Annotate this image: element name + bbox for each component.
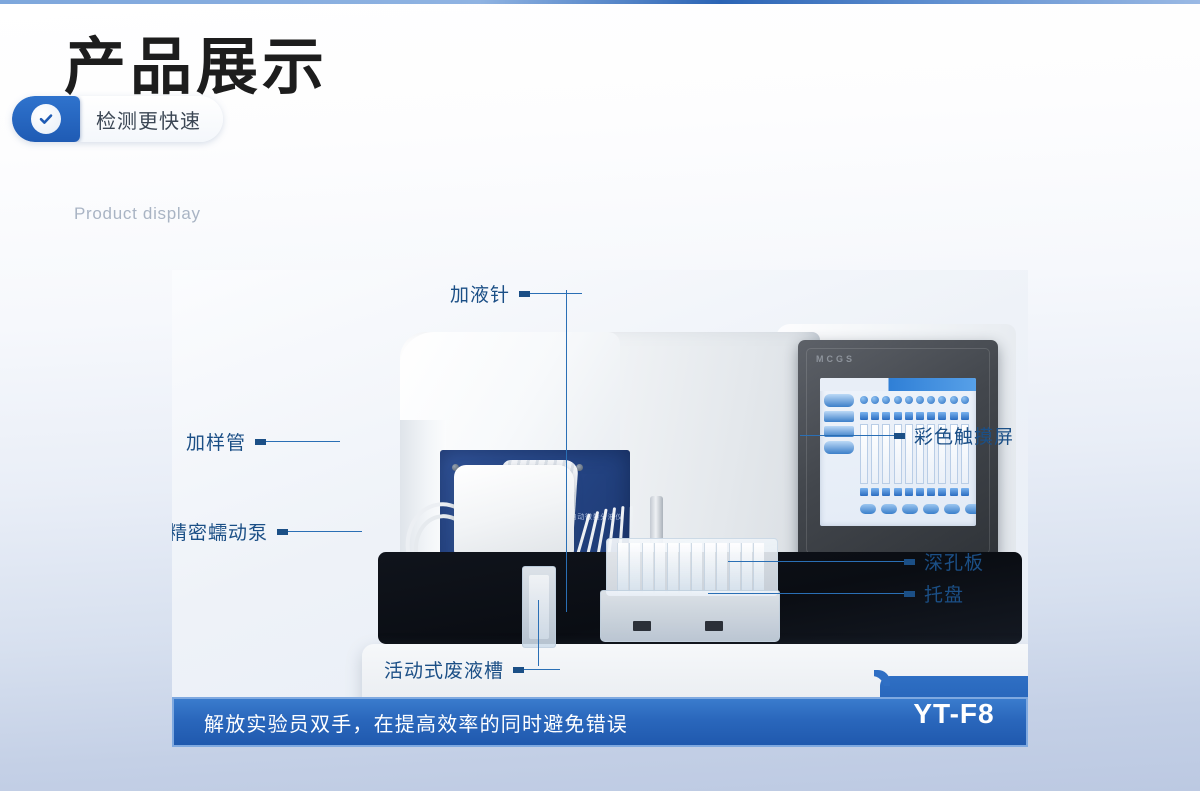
callout-label: 深孔板: [924, 548, 984, 575]
callout-sample-tube: 加样管: [186, 428, 340, 455]
callout-lead-line: [530, 293, 582, 294]
callout-peristaltic-pump: 精密蠕动泵: [172, 518, 362, 545]
callout-label: 托盘: [924, 580, 964, 607]
callout-label: 活动式废液槽: [384, 656, 504, 683]
badge-icon-area: [12, 96, 80, 142]
product-model-badge: YT-F8: [880, 688, 1028, 740]
product-photo: 全自动微量分液仪 MCGS: [172, 270, 1028, 732]
callout-marker-icon: [904, 591, 915, 597]
page-title: 产品展示: [64, 34, 564, 99]
callout-marker-icon: [904, 559, 915, 565]
lcd-square-row-bottom: [860, 488, 969, 496]
trough-inner: [529, 575, 549, 639]
callout-label: 加液针: [450, 280, 510, 307]
callout-lead-line: [800, 435, 894, 436]
touchscreen-bezel: MCGS: [798, 340, 998, 562]
feature-badge: 检测更快速: [12, 96, 223, 142]
callout-marker-icon: [513, 667, 524, 673]
page-subtitle: Product display: [74, 204, 201, 224]
callout-lead-line: [708, 593, 904, 594]
lcd-button-row: [860, 504, 976, 514]
callout-marker-icon: [255, 439, 266, 445]
callout-lead-line: [728, 561, 904, 562]
waste-liquid-trough: [522, 566, 556, 648]
product-image-card: 全自动微量分液仪 MCGS: [172, 270, 1028, 732]
lcd-square-row-top: [860, 412, 969, 420]
callout-marker-icon: [894, 433, 905, 439]
lcd-indicator-row: [860, 396, 969, 404]
callout-color-touchscreen: 彩色触摸屏: [800, 422, 1014, 449]
touchscreen-display[interactable]: [820, 378, 976, 526]
callout-marker-icon: [519, 291, 530, 297]
callout-label: 加样管: [186, 428, 246, 455]
banner-slogan: 解放实验员双手，在提高效率的同时避免错误: [204, 708, 628, 737]
callout-tray: 托盘: [708, 580, 964, 607]
peristaltic-pump-housing: [454, 465, 574, 560]
callout-dispensing-needle: 加液针: [450, 280, 582, 307]
plate-notch: [633, 621, 651, 631]
callout-lead-line: [266, 441, 340, 442]
badge-label: 检测更快速: [80, 105, 223, 134]
callout-label: 彩色触摸屏: [914, 422, 1014, 449]
callout-waste-trough: 活动式废液槽: [384, 656, 560, 683]
callout-lead-vertical-trough: [538, 600, 539, 666]
check-circle-icon: [31, 104, 61, 134]
callout-lead-line: [288, 531, 362, 532]
screen-brand-label: MCGS: [816, 354, 855, 364]
page-header: 产品展示: [64, 34, 564, 99]
lcd-title-bar: [820, 378, 976, 391]
callout-lead-vertical-needle: [566, 290, 567, 612]
callout-lead-line: [524, 669, 560, 670]
callout-marker-icon: [277, 529, 288, 535]
top-accent-rule: [0, 0, 1200, 4]
callout-label: 精密蠕动泵: [172, 518, 268, 545]
plate-notch: [705, 621, 723, 631]
callout-deep-well-plate: 深孔板: [728, 548, 984, 575]
